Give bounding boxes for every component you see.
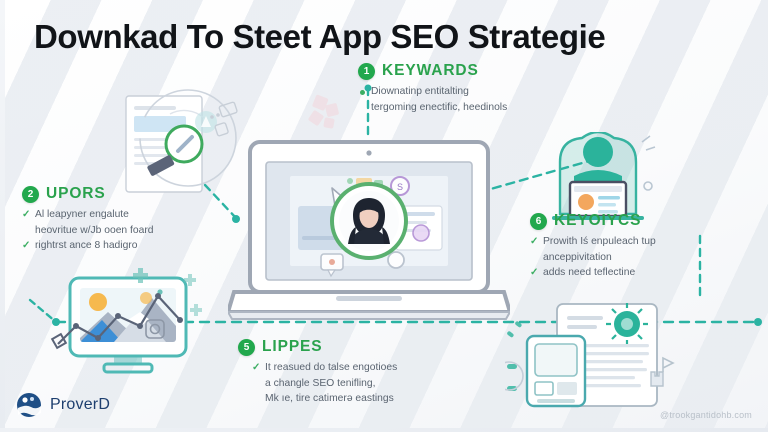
section-2-header: 2 UPORS <box>22 185 154 203</box>
brand-logo[interactable]: ProverD <box>16 392 110 418</box>
section-1-title: KEYWARDS <box>382 62 479 80</box>
section-6[interactable]: 6 KEYOIYCS Prowith Iś enpuleach tup ance… <box>530 212 656 282</box>
list-item: Al leapyner engalute <box>22 208 154 223</box>
section-5-title: LIPPES <box>262 338 323 356</box>
watermark-text: @trookgantidohb.com <box>660 410 752 420</box>
retro-computer-document-icon <box>505 298 690 413</box>
list-item: rightrst ance 8 hadigro <box>22 239 154 254</box>
canvas-left-edge <box>0 0 5 432</box>
section-2-badge: 2 <box>22 186 39 203</box>
laptop-avatar-icon: S <box>228 136 510 324</box>
section-6-title: KEYOIYCS <box>554 212 641 230</box>
pink-cluster-decoration <box>300 90 352 136</box>
brand-name: ProverD <box>50 396 110 414</box>
canvas-bottom-edge <box>0 428 768 432</box>
list-item: heovritue w/Jb ooen foard <box>22 224 154 239</box>
section-5[interactable]: 5 LIPPES It reasued do talse engotioes a… <box>238 338 397 408</box>
section-6-header: 6 KEYOIYCS <box>530 212 656 230</box>
section-6-bullet-list: Prowith Iś enpuleach tup anceppivitation… <box>530 235 656 281</box>
section-1-bullet-list: Diownatinp entitalting tergoming enectif… <box>358 85 507 115</box>
section-5-badge: 5 <box>238 339 255 356</box>
list-item: Prowith Iś enpuleach tup <box>530 235 656 250</box>
section-2[interactable]: 2 UPORS Al leapyner engalute heovritue w… <box>22 185 154 255</box>
section-2-title: UPORS <box>46 185 106 203</box>
list-item: adds need teflectine <box>530 266 656 281</box>
proverd-logo-icon <box>16 392 42 418</box>
section-1[interactable]: 1 KEYWARDS Diownatinp entitalting tergom… <box>358 62 507 116</box>
section-1-header: 1 KEYWARDS <box>358 62 507 80</box>
list-item: It reasued do talse engotioes <box>252 361 397 376</box>
infographic-canvas: Downkad To Steet App SEO Strategie <box>0 0 768 432</box>
monitor-chart-icon <box>18 268 208 383</box>
section-5-bullet-list: It reasued do talse engotioes a changle … <box>238 361 397 407</box>
page-title: Downkad To Steet App SEO Strategie <box>34 18 605 56</box>
list-item: Diownatinp entitalting <box>358 85 507 100</box>
list-item: tergoming enectific, heedinols <box>358 101 507 116</box>
section-1-badge: 1 <box>358 63 375 80</box>
section-5-header: 5 LIPPES <box>238 338 397 356</box>
section-2-bullet-list: Al leapyner engalute heovritue w/Jb ooen… <box>22 208 154 254</box>
list-item: anceppivitation <box>530 251 656 266</box>
list-item: Mk ıе, tire catimerə eastings <box>252 392 397 407</box>
svg-text:S: S <box>397 182 403 192</box>
section-6-badge: 6 <box>530 213 547 230</box>
list-item: a changle SEO tenifling, <box>252 377 397 392</box>
